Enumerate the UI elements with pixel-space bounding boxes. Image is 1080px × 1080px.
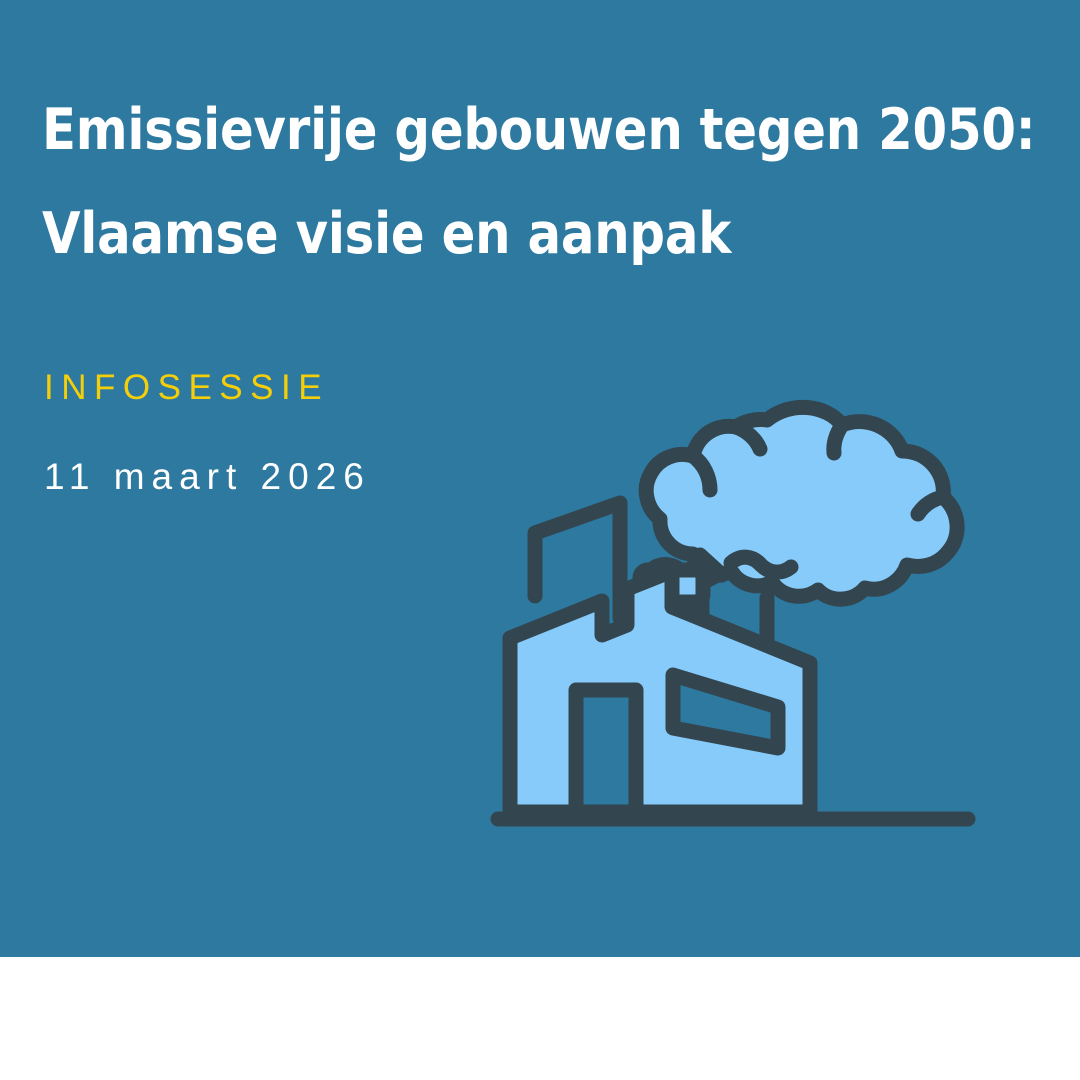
cloud-inner-curl-right bbox=[834, 425, 842, 453]
factory-emissions-cloud-icon bbox=[490, 385, 980, 855]
poster-canvas: Emissievrije gebouwen tegen 2050: Vlaams… bbox=[0, 0, 1080, 1080]
event-date: 11 maart 2026 bbox=[44, 458, 371, 495]
footer-bar: MINARAAD milieu & natuur Vla bbox=[0, 957, 1080, 1080]
page-title: Emissievrije gebouwen tegen 2050: Vlaams… bbox=[42, 78, 1052, 286]
factory-door bbox=[576, 690, 636, 812]
main-panel: Emissievrije gebouwen tegen 2050: Vlaams… bbox=[0, 0, 1080, 957]
headline-line-1: Emissievrije gebouwen tegen 2050: bbox=[42, 78, 1022, 182]
headline-line-2: Vlaamse visie en aanpak bbox=[42, 182, 1022, 286]
kicker-label: INFOSESSIE bbox=[44, 370, 329, 405]
